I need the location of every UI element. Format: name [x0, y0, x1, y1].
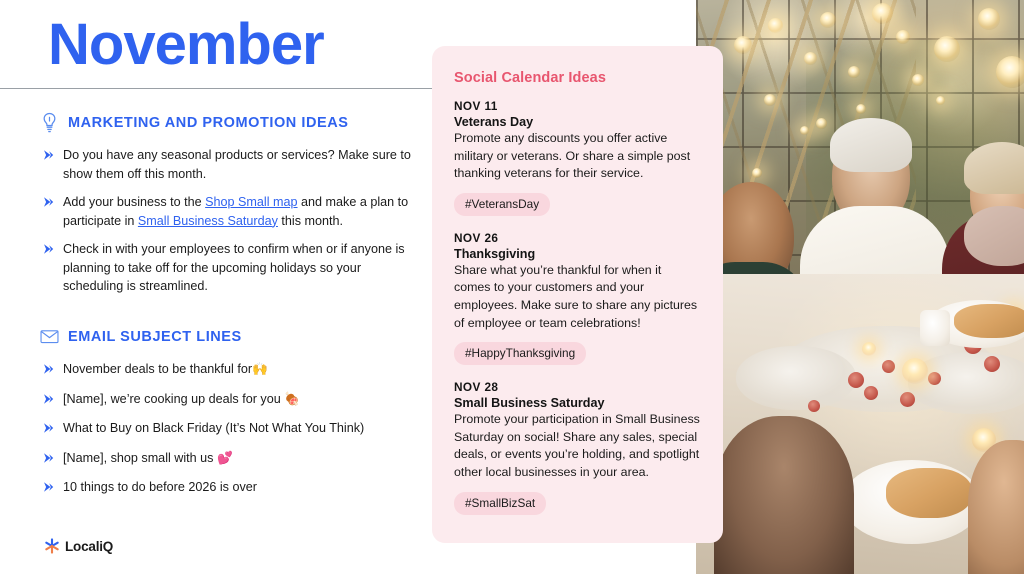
photo-berry-cluster — [864, 386, 878, 400]
email-section-title: EMAIL SUBJECT LINES — [68, 329, 242, 345]
photo-mug — [920, 310, 950, 346]
calendar-entry-date: NOV 11 — [454, 99, 701, 113]
photo-person-foreground — [714, 416, 854, 574]
marketing-section: MARKETING AND PROMOTION IDEAS Do you hav… — [40, 112, 420, 306]
string-light-bulb — [804, 52, 817, 65]
string-light-bulb — [912, 74, 924, 86]
marketing-bullet-item: Check in with your employees to confirm … — [40, 240, 420, 296]
emoji-icon: 🙌 — [252, 361, 268, 376]
string-light-bulb — [978, 8, 1000, 30]
calendar-entry-description: Promote your participation in Small Busi… — [454, 411, 701, 481]
calendar-entry-description: Share what you’re thankful for when it c… — [454, 262, 701, 332]
string-light-bulb — [816, 118, 827, 129]
calendar-entry-name: Veterans Day — [454, 115, 701, 129]
email-subject-item: [Name], shop small with us 💕 — [40, 449, 420, 468]
string-light-bulb — [752, 168, 762, 178]
email-subject-item: What to Buy on Black Friday (It’s Not Wh… — [40, 419, 420, 438]
string-light-bulb — [896, 30, 910, 44]
social-calendar-title: Social Calendar Ideas — [454, 70, 701, 86]
photo-food — [954, 304, 1024, 338]
string-light-bulb — [936, 96, 945, 105]
string-light-bulb — [848, 66, 860, 78]
marketing-bullet-item: Do you have any seasonal products or ser… — [40, 146, 420, 183]
photo-food — [886, 468, 972, 518]
email-subject-item: 10 things to do before 2026 is over — [40, 478, 420, 497]
marketing-section-title: MARKETING AND PROMOTION IDEAS — [68, 115, 348, 131]
string-light-bulb — [734, 36, 752, 54]
inline-link[interactable]: Small Business Saturday — [138, 214, 278, 228]
page-title: November — [48, 12, 324, 79]
photo-person-senior-man-hair — [830, 118, 912, 172]
photo-berry-cluster — [900, 392, 915, 407]
email-section-header: EMAIL SUBJECT LINES — [40, 326, 420, 347]
photo-candle-flame — [902, 358, 928, 384]
email-section: EMAIL SUBJECT LINES November deals to be… — [40, 326, 420, 508]
string-light-bulb — [764, 94, 776, 106]
hashtag-pill[interactable]: #VeteransDay — [454, 193, 550, 216]
photo-berry-cluster — [848, 372, 864, 388]
localiq-logo-text: LocaliQ — [65, 539, 113, 554]
lightbulb-icon — [40, 112, 59, 133]
emoji-icon: 💕 — [217, 450, 233, 465]
localiq-asterisk-icon — [44, 538, 60, 554]
string-light-bulb — [996, 56, 1024, 88]
marketing-bullet-item: Add your business to the Shop Small map … — [40, 193, 420, 230]
photo-berry-cluster — [808, 400, 820, 412]
envelope-icon — [40, 326, 59, 347]
arrow-bullet-icon — [43, 452, 54, 464]
photo-berry-cluster — [984, 356, 1000, 372]
photo-berry-cluster — [882, 360, 895, 373]
email-subject-item: November deals to be thankful for🙌 — [40, 360, 420, 379]
photo-table-greenery — [908, 352, 1024, 414]
calendar-entry-date: NOV 28 — [454, 380, 701, 394]
hashtag-pill[interactable]: #SmallBizSat — [454, 492, 546, 515]
photo-berry-cluster — [928, 372, 941, 385]
string-light-bulb — [800, 126, 809, 135]
social-calendar-entries: NOV 11Veterans DayPromote any discounts … — [454, 99, 701, 526]
email-subject-list: November deals to be thankful for🙌[Name]… — [40, 360, 420, 497]
hero-photo — [696, 0, 1024, 574]
email-subject-item: [Name], we’re cooking up deals for you 🍖 — [40, 390, 420, 409]
localiq-logo[interactable]: LocaliQ — [44, 538, 113, 554]
calendar-entry-description: Promote any discounts you offer active m… — [454, 130, 701, 183]
arrow-bullet-icon — [43, 481, 54, 493]
photo-table-greenery — [736, 346, 856, 410]
string-light-bulb — [934, 36, 960, 62]
arrow-bullet-icon — [43, 393, 54, 405]
arrow-bullet-icon — [43, 243, 54, 255]
string-light-bulb — [872, 3, 893, 24]
marketing-section-header: MARKETING AND PROMOTION IDEAS — [40, 112, 420, 133]
arrow-bullet-icon — [43, 196, 54, 208]
calendar-entry-name: Thanksgiving — [454, 247, 701, 261]
marketing-bullet-list: Do you have any seasonal products or ser… — [40, 146, 420, 296]
photo-scarf — [964, 206, 1024, 266]
string-light-bulb — [820, 12, 836, 28]
hashtag-pill[interactable]: #HappyThanksgiving — [454, 342, 586, 365]
arrow-bullet-icon — [43, 149, 54, 161]
string-light-bulb — [768, 18, 783, 33]
photo-candle-flame — [862, 342, 876, 356]
arrow-bullet-icon — [43, 363, 54, 375]
calendar-entry-name: Small Business Saturday — [454, 396, 701, 410]
calendar-entry: NOV 28Small Business SaturdayPromote you… — [454, 380, 701, 525]
string-light-bulb — [856, 104, 866, 114]
arrow-bullet-icon — [43, 422, 54, 434]
photo-person-senior-woman-hair — [964, 142, 1024, 194]
inline-link[interactable]: Shop Small map — [205, 195, 297, 209]
calendar-entry-date: NOV 26 — [454, 231, 701, 245]
header-divider — [0, 88, 432, 89]
calendar-entry: NOV 26ThanksgivingShare what you’re than… — [454, 231, 701, 376]
social-calendar-card: Social Calendar Ideas NOV 11Veterans Day… — [432, 46, 723, 543]
calendar-entry: NOV 11Veterans DayPromote any discounts … — [454, 99, 701, 227]
emoji-icon: 🍖 — [284, 391, 300, 406]
